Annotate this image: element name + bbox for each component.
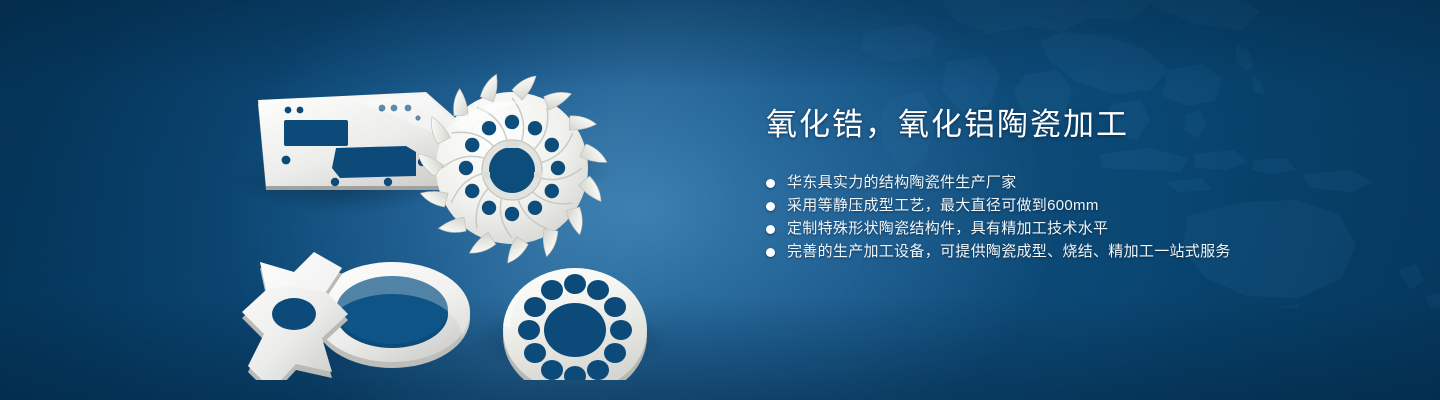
page-title: 氧化锆，氧化铝陶瓷加工 bbox=[766, 104, 1386, 146]
list-item-label: 采用等静压成型工艺，最大直径可做到600mm bbox=[787, 195, 1099, 217]
banner-copy: 氧化锆，氧化铝陶瓷加工 华东具实力的结构陶瓷件生产厂家 采用等静压成型工艺，最大… bbox=[766, 104, 1386, 264]
bullet-dot-icon bbox=[766, 248, 775, 257]
list-item: 完善的生产加工设备，可提供陶瓷成型、烧结、精加工一站式服务 bbox=[766, 241, 1386, 263]
list-item: 采用等静压成型工艺，最大直径可做到600mm bbox=[766, 195, 1386, 217]
list-item: 华东具实力的结构陶瓷件生产厂家 bbox=[766, 172, 1386, 194]
ceramic-impeller-disc bbox=[418, 74, 607, 263]
ceramic-perforated-disc bbox=[503, 268, 647, 380]
list-item-label: 定制特殊形状陶瓷结构件，具有精加工技术水平 bbox=[787, 218, 1108, 240]
list-item-label: 华东具实力的结构陶瓷件生产厂家 bbox=[787, 172, 1017, 194]
bullet-dot-icon bbox=[766, 225, 775, 234]
list-item: 定制特殊形状陶瓷结构件，具有精加工技术水平 bbox=[766, 218, 1386, 240]
list-item-label: 完善的生产加工设备，可提供陶瓷成型、烧结、精加工一站式服务 bbox=[787, 241, 1231, 263]
feature-list: 华东具实力的结构陶瓷件生产厂家 采用等静压成型工艺，最大直径可做到600mm 定… bbox=[766, 172, 1386, 263]
bullet-dot-icon bbox=[766, 202, 775, 211]
bullet-dot-icon bbox=[766, 179, 775, 188]
hero-banner: 氧化锆，氧化铝陶瓷加工 华东具实力的结构陶瓷件生产厂家 采用等静压成型工艺，最大… bbox=[0, 0, 1440, 400]
product-photo-group bbox=[230, 40, 730, 380]
